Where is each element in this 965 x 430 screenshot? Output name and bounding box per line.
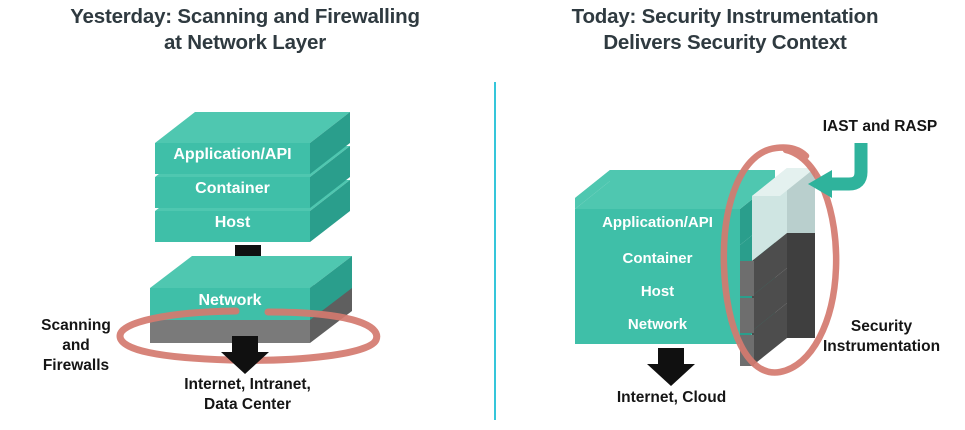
right-block-application-api xyxy=(575,170,775,245)
right-label-application-api: Application/API xyxy=(575,214,740,231)
left-panel-title: Yesterday: Scanning and Firewalling at N… xyxy=(20,4,470,56)
left-block-application-api xyxy=(155,112,350,174)
left-label-container: Container xyxy=(155,180,310,198)
right-arrow-to-internet xyxy=(647,348,695,386)
left-footer-line-1: Internet, Intranet, xyxy=(145,375,350,395)
security-instrumentation-line-1: Security xyxy=(800,317,963,337)
left-title-line-2: at Network Layer xyxy=(20,30,470,56)
diagram-shapes xyxy=(0,0,965,430)
left-arrow-to-internet xyxy=(221,336,269,374)
diagram-canvas: Yesterday: Scanning and Firewalling at N… xyxy=(0,0,965,430)
scanning-label-line-3: Firewalls xyxy=(18,356,134,376)
iast-rasp-text: IAST and RASP xyxy=(795,117,965,137)
iast-rasp-arrow xyxy=(808,143,861,198)
right-label-host: Host xyxy=(575,283,740,300)
security-instrumentation-line-2: Instrumentation xyxy=(800,337,963,357)
right-label-network: Network xyxy=(575,316,740,333)
right-panel-title: Today: Security Instrumentation Delivers… xyxy=(500,4,950,56)
left-footer-caption: Internet, Intranet, Data Center xyxy=(145,375,350,415)
right-title-line-2: Delivers Security Context xyxy=(500,30,950,56)
right-footer-line-1: Internet, Cloud xyxy=(588,388,755,408)
right-label-container: Container xyxy=(575,250,740,267)
right-title-line-1: Today: Security Instrumentation xyxy=(500,4,950,30)
scanning-label-line-2: and xyxy=(18,336,134,356)
left-label-application-api: Application/API xyxy=(155,146,310,164)
left-arrow-between-stacks xyxy=(225,245,271,279)
left-block-network xyxy=(150,256,352,320)
scanning-and-firewalls-label: Scanning and Firewalls xyxy=(18,316,134,376)
left-label-host: Host xyxy=(155,214,310,232)
scanning-label-line-1: Scanning xyxy=(18,316,134,336)
security-instrumentation-label: Security Instrumentation xyxy=(800,317,963,357)
iast-rasp-label: IAST and RASP xyxy=(795,117,965,137)
left-title-line-1: Yesterday: Scanning and Firewalling xyxy=(20,4,470,30)
left-red-ellipse xyxy=(120,311,377,360)
panel-divider xyxy=(494,82,496,420)
left-footer-line-2: Data Center xyxy=(145,395,350,415)
left-label-network: Network xyxy=(150,292,310,310)
right-footer-caption: Internet, Cloud xyxy=(588,388,755,408)
